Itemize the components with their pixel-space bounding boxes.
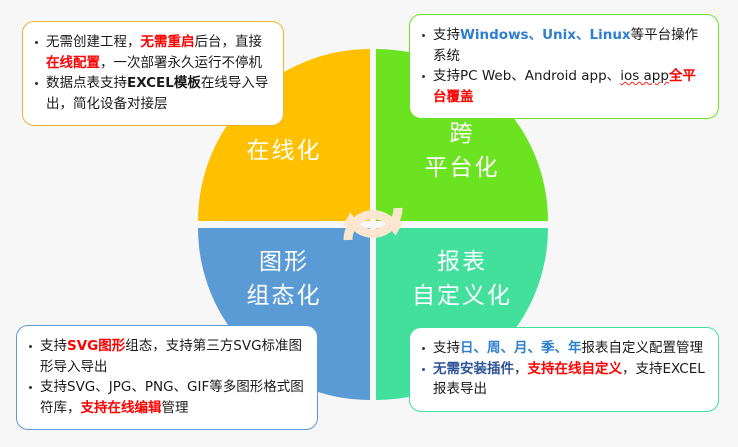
text-run-emphasis: 无需安装插件	[433, 361, 514, 377]
text-run-spellcheck: ios app	[620, 68, 669, 84]
callout-report-list: 支持日、周、月、季、年报表自定义配置管理 无需安装插件，支持在线自定义，支持EX…	[420, 338, 706, 400]
diagram-canvas: 在线化 跨 平台化 图形 组态化 报表 自定义化 无需创建工程，无需重启后台，直…	[0, 0, 738, 447]
text-run-emphasis: 在线配置	[46, 55, 100, 71]
callout-graphics: 支持SVG图形组态，支持第三方SVG标准图形导入导出 支持SVG、JPG、PNG…	[16, 325, 318, 430]
callout-cross-platform-list: 支持Windows、Unix、Linux等平台操作系统 支持PC Web、And…	[420, 25, 706, 107]
list-item: 无需安装插件，支持在线自定义，支持EXCEL报表导出	[420, 359, 706, 400]
text-run-emphasis: 支持在线自定义	[528, 361, 623, 377]
text-run: 支持PC Web、Android app、	[433, 68, 620, 84]
list-item: 支持日、周、月、季、年报表自定义配置管理	[420, 338, 706, 359]
callout-graphics-list: 支持SVG图形组态，支持第三方SVG标准图形导入导出 支持SVG、JPG、PNG…	[27, 336, 305, 418]
text-run-emphasis: 无需重启	[141, 34, 195, 50]
list-item: 支持PC Web、Android app、ios app全平台覆盖	[420, 66, 706, 107]
text-run: 无需创建工程，	[46, 34, 141, 50]
callout-report: 支持日、周、月、季、年报表自定义配置管理 无需安装插件，支持在线自定义，支持EX…	[409, 327, 719, 412]
callout-cross-platform: 支持Windows、Unix、Linux等平台操作系统 支持PC Web、And…	[409, 14, 719, 119]
text-run: ，	[514, 361, 528, 377]
text-run: 后台，直接	[195, 34, 263, 50]
list-item: 支持SVG图形组态，支持第三方SVG标准图形导入导出	[27, 336, 305, 377]
text-run: 数据点表支持	[46, 75, 127, 91]
callout-online: 无需创建工程，无需重启后台，直接在线配置，一次部署永久运行不停机 数据点表支持E…	[22, 21, 284, 126]
list-item: 数据点表支持EXCEL模板在线导入导出，简化设备对接层	[33, 73, 271, 114]
list-item: 无需创建工程，无需重启后台，直接在线配置，一次部署永久运行不停机	[33, 32, 271, 73]
text-run: 支持	[433, 340, 460, 356]
list-item: 支持SVG、JPG、PNG、GIF等多图形格式图符库，支持在线编辑管理	[27, 377, 305, 418]
text-run: 管理	[162, 400, 189, 416]
callout-online-list: 无需创建工程，无需重启后台，直接在线配置，一次部署永久运行不停机 数据点表支持E…	[33, 32, 271, 114]
text-run: 报表自定义配置管理	[582, 340, 704, 356]
list-item: 支持Windows、Unix、Linux等平台操作系统	[420, 25, 706, 66]
text-run-emphasis: 支持在线编辑	[81, 400, 162, 416]
text-run-emphasis: EXCEL模板	[127, 75, 201, 91]
text-run: 支持	[433, 27, 460, 43]
text-run-emphasis: Windows、Unix、Linux	[460, 27, 631, 43]
text-run-emphasis: 日、周、月、季、年	[460, 340, 582, 356]
text-run: ，一次部署永久运行不停机	[100, 55, 262, 71]
text-run-emphasis: SVG图形	[67, 338, 125, 354]
text-run: 支持	[40, 338, 67, 354]
